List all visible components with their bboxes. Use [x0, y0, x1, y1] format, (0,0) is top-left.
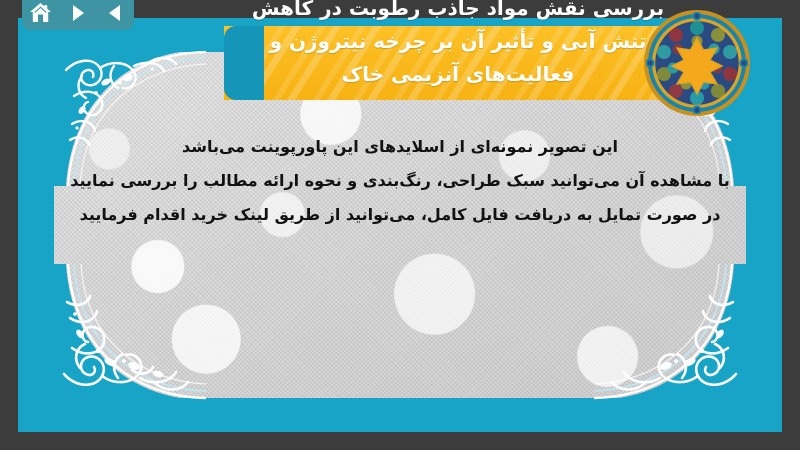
slide-viewer: بررسی نقش مواد جاذب رطوبت در کاهش تنش آب… — [0, 0, 800, 450]
home-icon[interactable] — [28, 1, 54, 25]
persian-medallion-icon — [642, 8, 752, 118]
slide-title: بررسی نقش مواد جاذب رطوبت در کاهش تنش آب… — [230, 0, 686, 104]
slide-title-line-3: فعالیت‌های آنزیمی خاک — [244, 58, 672, 91]
slide-title-line-1: بررسی نقش مواد جاذب رطوبت در کاهش — [244, 0, 672, 25]
forward-arrow-icon[interactable] — [65, 1, 91, 25]
slide-navigation-bar — [22, 0, 134, 30]
slide-body-line-3: در صورت تمایل به دریافت فایل کامل، می‌تو… — [40, 198, 760, 232]
slide-body-line-2: با مشاهده آن می‌توانید سبک طراحی، رنگ‌بن… — [40, 164, 760, 198]
slide-body-line-1: این تصویر نمونه‌ای از اسلایدهای این پاور… — [40, 130, 760, 164]
slide-title-line-2: تنش آبی و تأثیر آن بر چرخه نیتروژن و — [244, 25, 672, 58]
back-arrow-icon[interactable] — [102, 1, 128, 25]
slide-body-text: این تصویر نمونه‌ای از اسلایدهای این پاور… — [40, 130, 760, 232]
